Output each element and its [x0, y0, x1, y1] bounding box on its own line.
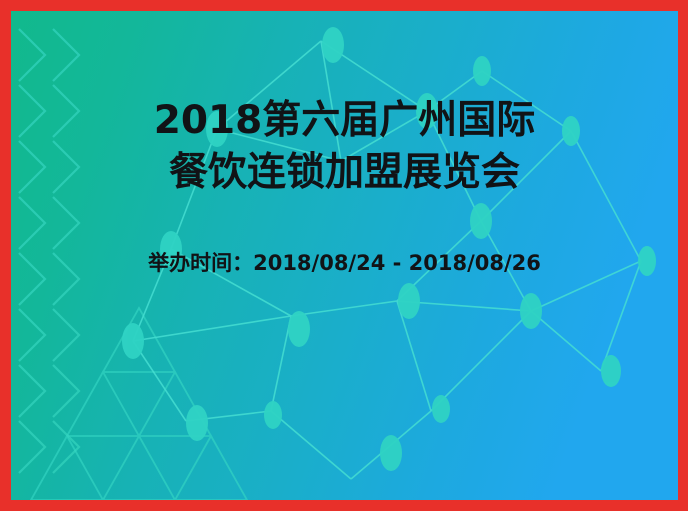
poster-canvas: 2018第六届广州国际 餐饮连锁加盟展览会 举办时间：2018/08/24 - …: [11, 11, 678, 500]
poster-title-line-1: 2018第六届广州国际: [11, 95, 678, 147]
poster-frame: 2018第六届广州国际 餐饮连锁加盟展览会 举办时间：2018/08/24 - …: [0, 0, 688, 511]
poster-title-line-2: 餐饮连锁加盟展览会: [11, 147, 678, 199]
poster-text-block: 2018第六届广州国际 餐饮连锁加盟展览会 举办时间：2018/08/24 - …: [11, 95, 678, 277]
poster-subtitle: 举办时间：2018/08/24 - 2018/08/26: [11, 249, 678, 277]
